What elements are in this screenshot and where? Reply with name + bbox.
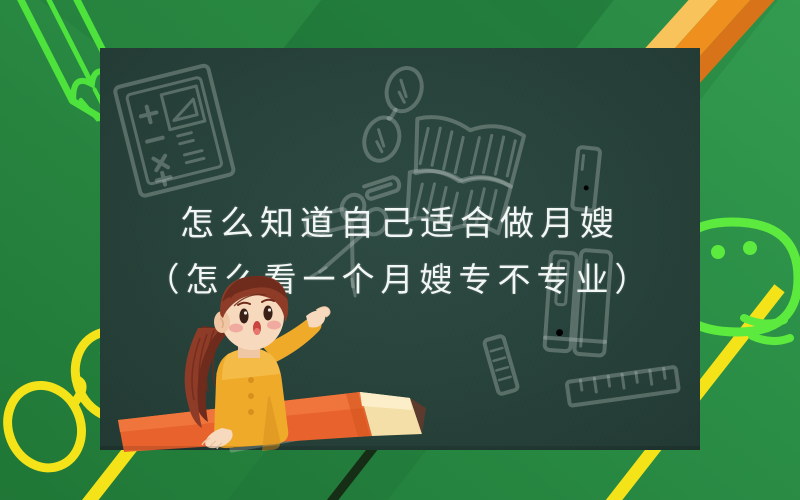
girl-riding-pencil-illustration	[110, 268, 440, 450]
chalkboard-bottom-edge	[100, 446, 700, 450]
chalkboard: 怎么知道自己适合做月嫂 （怎么看一个月嫂专不专业）	[100, 48, 700, 450]
title-line-1: 怎么知道自己适合做月嫂	[100, 196, 700, 252]
cover-image: 怎么知道自己适合做月嫂 （怎么看一个月嫂专不专业）	[0, 0, 800, 500]
